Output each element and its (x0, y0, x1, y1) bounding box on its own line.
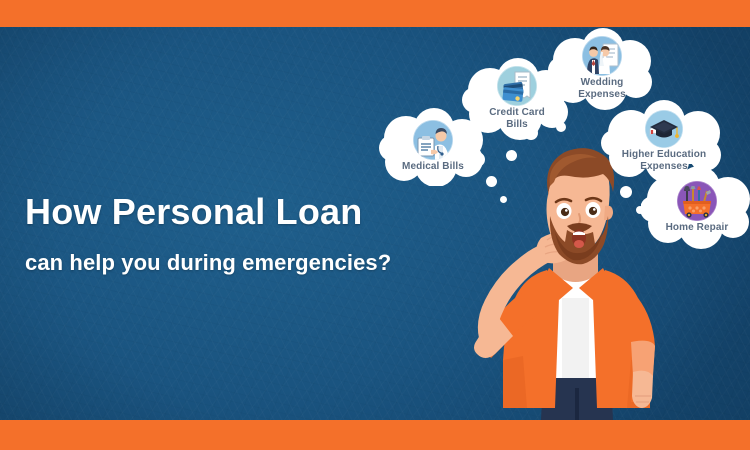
thought-bubble-wedding-expenses: Wedding Expenses (548, 28, 656, 110)
bubble-label: Home Repair (666, 222, 729, 233)
graduation-cap-icon (645, 110, 683, 148)
bubble-label: Credit Card Bills (489, 107, 545, 129)
bubble-label: Medical Bills (402, 161, 464, 172)
bubble-label: Wedding Expenses (578, 77, 626, 99)
thought-trail-dot (620, 186, 632, 198)
thought-trail-dot (506, 150, 517, 161)
thought-bubble-home-repair: Home Repair (641, 166, 750, 250)
credit-card-icon (497, 66, 537, 106)
doctor-icon (413, 120, 453, 160)
thought-trail-dot (500, 196, 507, 203)
wedding-couple-icon (582, 36, 622, 76)
page-title: How Personal Loan (25, 193, 362, 231)
top-accent-bar (0, 0, 750, 27)
banner: Medical Bills (0, 0, 750, 450)
toolbox-icon (677, 181, 717, 221)
page-subtitle: can help you during emergencies? (25, 250, 391, 276)
